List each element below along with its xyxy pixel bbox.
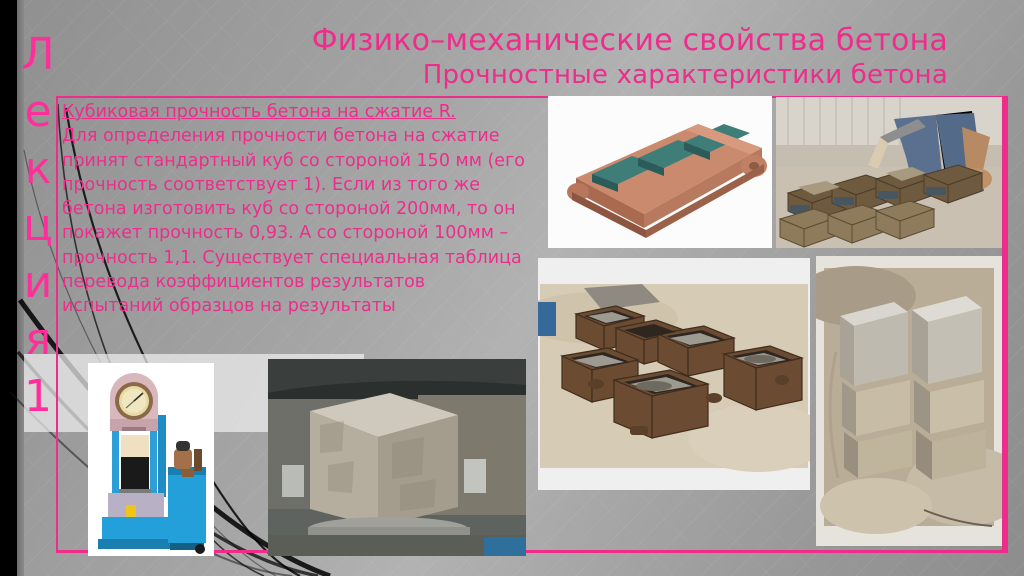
photo-mould-triple: Стальная разъёмная форма на три призмы, …	[548, 96, 772, 248]
lecture-char-5: я	[10, 311, 66, 368]
body-heading: Кубиковая прочность бетона на сжатие R.	[62, 100, 532, 124]
photo-concrete-cubes: Два штабеля затвердевших бетонных кубов …	[816, 256, 1002, 546]
photo-press: Гидравлический пресс для испытания образ…	[88, 363, 214, 556]
photo-cube-test: Бетонный куб, установленный на опорной п…	[268, 359, 526, 556]
photo-filling-moulds: Рабочий заполняет бетонной смесью кубовы…	[776, 97, 1002, 248]
lecture-char-3: ц	[10, 197, 66, 254]
photo-rusty-moulds: Ржавые металлические кубовые формы с уло…	[538, 258, 810, 490]
body-text-block: Кубиковая прочность бетона на сжатие R. …	[62, 100, 532, 319]
body-paragraph: Для определения прочности бетона на сжат…	[62, 124, 532, 318]
slide-title-secondary: Прочностные характеристики бетона	[0, 60, 948, 90]
lecture-char-6: 1	[10, 368, 66, 425]
presentation-slide: Л е к ц и я 1 Физико–механические свойст…	[0, 0, 1024, 576]
lecture-char-4: и	[10, 254, 66, 311]
content-frame-right-edge	[1002, 96, 1008, 552]
slide-title-primary: Физико–механические свойства бетона	[0, 24, 948, 58]
lecture-char-1: е	[10, 83, 66, 140]
lecture-char-2: к	[10, 140, 66, 197]
